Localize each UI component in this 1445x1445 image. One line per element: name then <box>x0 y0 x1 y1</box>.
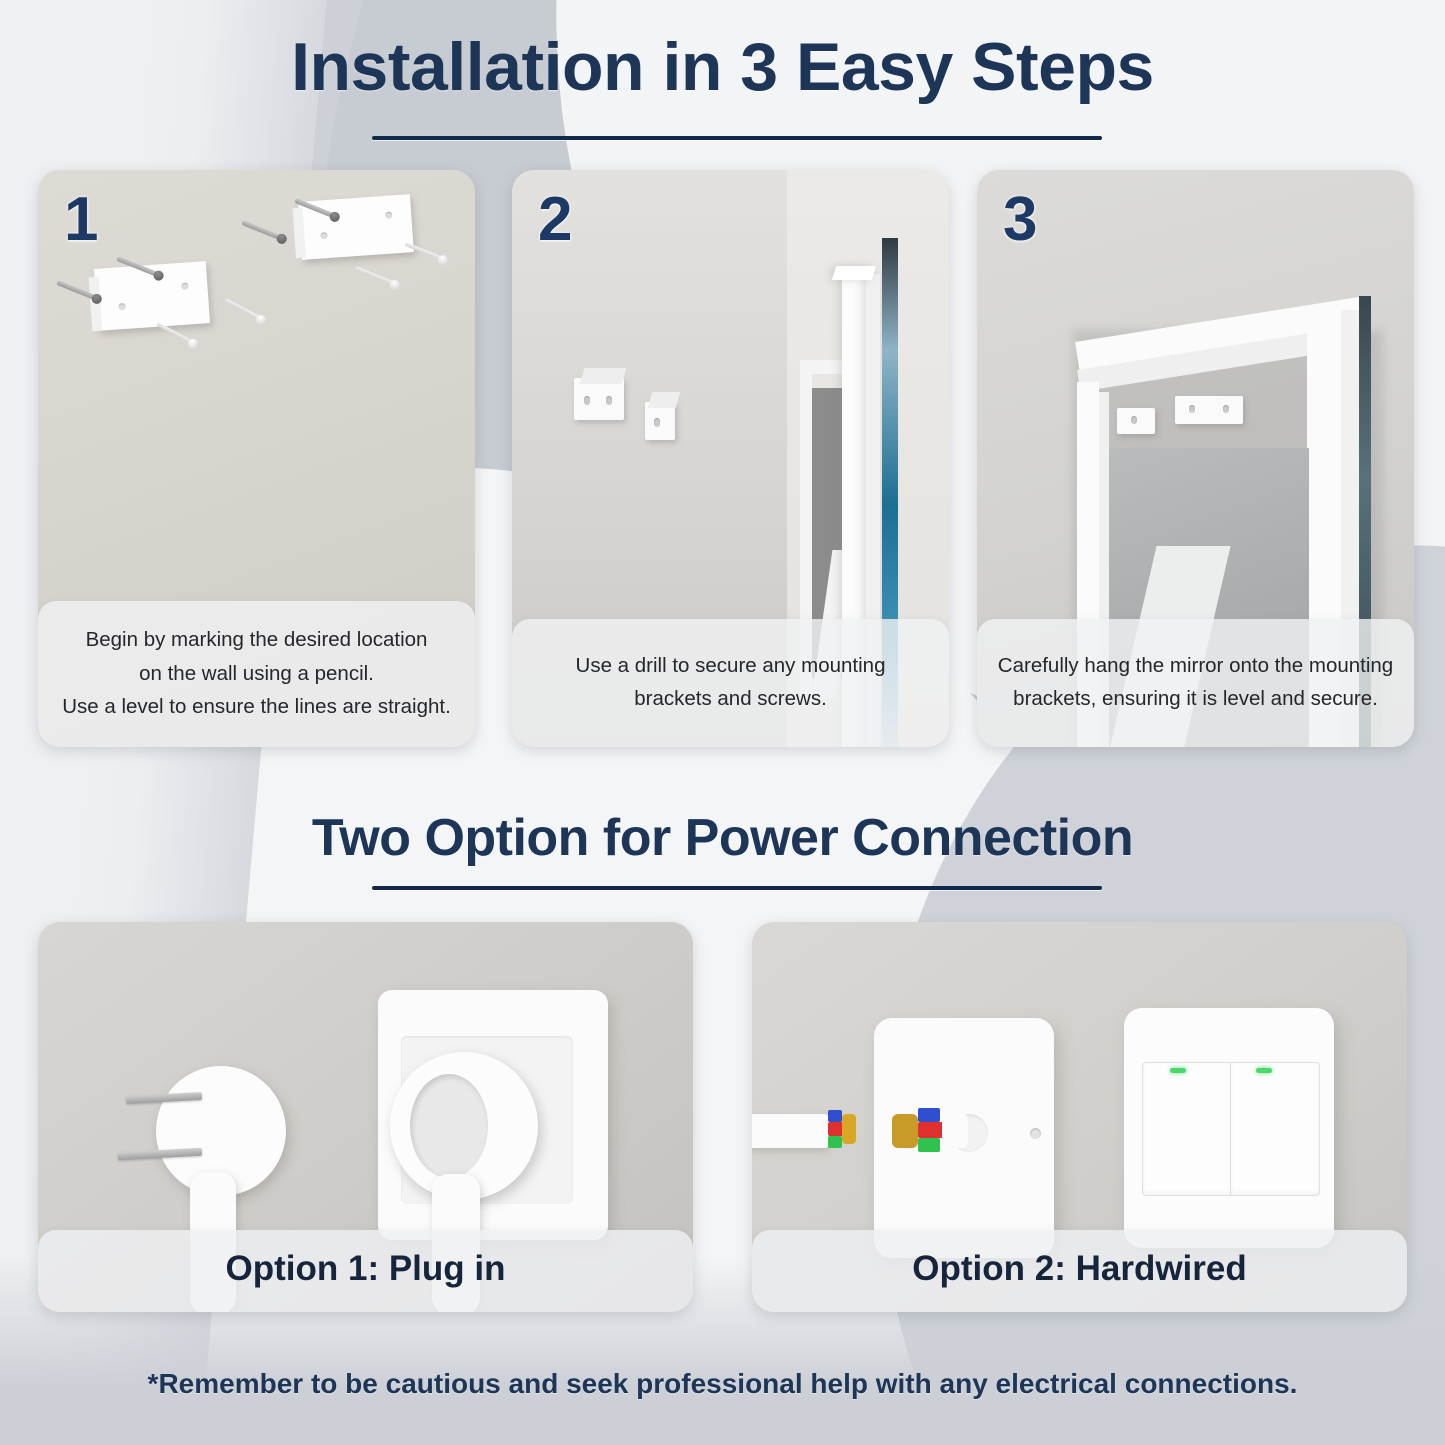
step-2-caption: Use a drill to secure any mounting brack… <box>512 619 949 747</box>
caption-line: Begin by marking the desired location <box>56 623 457 656</box>
switch-indicator-right <box>1256 1068 1272 1073</box>
power-cable <box>752 1114 830 1148</box>
step-card-3: 3 Carefully hang the mirror onto the mou… <box>977 170 1414 747</box>
wire-red <box>918 1122 944 1138</box>
plug-inserted-recess <box>410 1074 488 1178</box>
caption-line: Use a drill to secure any mounting <box>530 649 931 682</box>
wire-green <box>918 1138 940 1152</box>
caption-line: Use a level to ensure the lines are stra… <box>56 690 457 723</box>
mirror-frame-top-bevel <box>832 266 877 280</box>
wall-bracket-right <box>645 402 675 440</box>
step-card-2: 2 Use a drill to secure any mounting bra… <box>512 170 949 747</box>
cable-conductors-outer <box>828 1110 860 1152</box>
step-card-1: 1 Begin by marking the desired location … <box>38 170 475 747</box>
wall-bracket-left <box>574 378 624 420</box>
caption-line: brackets and screws. <box>530 682 931 715</box>
power-title-divider <box>372 886 1102 890</box>
footnote-text: *Remember to be cautious and seek profes… <box>0 1368 1445 1400</box>
caption-line: on the wall using a pencil. <box>56 657 457 690</box>
option-1-label: Option 1: Plug in <box>38 1230 693 1312</box>
rocker-switch-right <box>1230 1062 1320 1196</box>
wire-gold-connector <box>842 1114 856 1144</box>
title-divider <box>372 136 1102 140</box>
wire-blue <box>918 1108 940 1122</box>
power-section-title: Two Option for Power Connection <box>0 812 1445 864</box>
mounting-bracket-right <box>298 194 414 260</box>
cable-sheath-stub <box>942 1114 968 1148</box>
step-1-caption: Begin by marking the desired location on… <box>38 601 475 747</box>
cable-conductors-inner <box>892 1108 968 1156</box>
page-title: Installation in 3 Easy Steps <box>0 33 1445 101</box>
option-2-label: Option 2: Hardwired <box>752 1230 1407 1312</box>
junction-plate-screw <box>1030 1128 1041 1139</box>
step-number-3: 3 <box>1003 184 1037 255</box>
switch-indicator-left <box>1170 1068 1186 1073</box>
rocker-switch-left <box>1142 1062 1232 1196</box>
wire-blue <box>828 1110 842 1122</box>
step-number-2: 2 <box>538 184 572 255</box>
option-card-hardwired: Option 2: Hardwired <box>752 922 1407 1312</box>
caption-line: brackets, ensuring it is level and secur… <box>995 682 1396 715</box>
frame-bracket-left <box>1117 408 1155 434</box>
wire-green <box>828 1136 842 1148</box>
caption-line: Carefully hang the mirror onto the mount… <box>995 649 1396 682</box>
step-number-1: 1 <box>64 184 98 255</box>
frame-bracket-right <box>1175 396 1243 424</box>
step-3-caption: Carefully hang the mirror onto the mount… <box>977 619 1414 747</box>
wire-gold-connector <box>892 1114 918 1148</box>
option-card-plug-in: Option 1: Plug in <box>38 922 693 1312</box>
